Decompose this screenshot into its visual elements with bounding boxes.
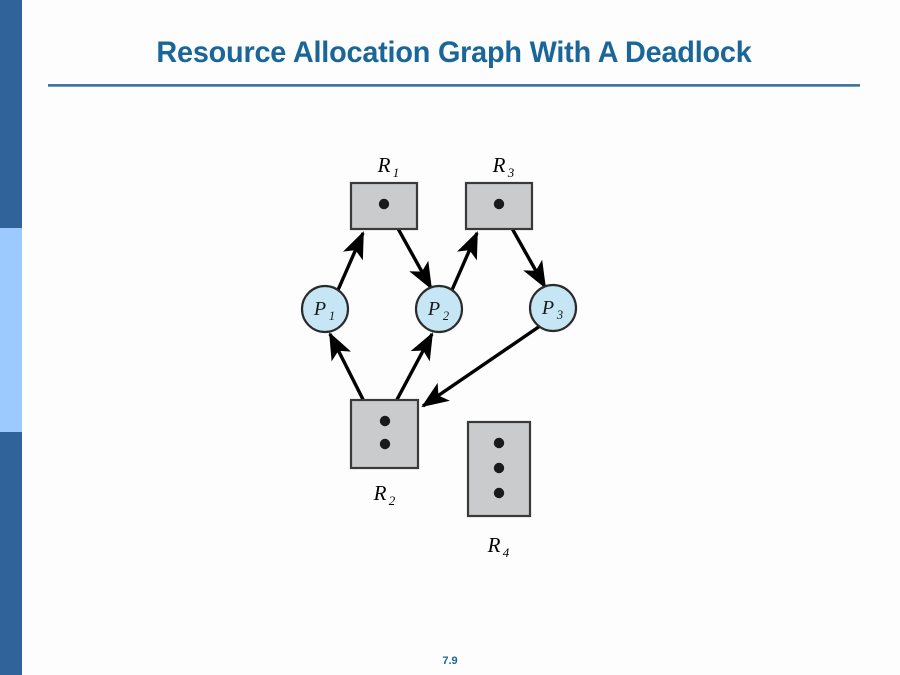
slide: Resource Allocation Graph With A Deadloc…	[0, 0, 900, 675]
resource-label-r2: R	[373, 481, 387, 505]
resource-label-r1: R	[377, 153, 391, 177]
resource-allocation-graph: R 1 R 3 R 2 R 4 P	[0, 0, 900, 675]
edge-p2-to-r3	[452, 233, 477, 290]
resource-node-r1[interactable]: R 1	[351, 153, 417, 229]
resource-box-r2	[351, 400, 418, 468]
process-label-p3: P	[541, 297, 554, 319]
resource-label-r4-subscript: 4	[503, 545, 510, 560]
resource-label-r1-subscript: 1	[393, 165, 400, 180]
edge-p3-to-r2	[423, 326, 540, 406]
instance-dot	[380, 416, 390, 426]
resource-label-r3: R	[492, 153, 506, 177]
instance-dot	[494, 438, 504, 448]
resource-label-r3-subscript: 3	[507, 165, 515, 180]
instance-dot	[494, 463, 504, 473]
resource-label-r4: R	[487, 533, 501, 557]
process-label-p1-subscript: 1	[329, 309, 335, 323]
process-node-p3[interactable]: P 3	[530, 285, 576, 331]
resource-node-r3[interactable]: R 3	[466, 153, 532, 229]
instance-dot	[494, 199, 504, 209]
process-node-p2[interactable]: P 2	[416, 286, 462, 332]
resource-label-r2-subscript: 2	[389, 493, 396, 508]
process-label-p3-subscript: 3	[556, 308, 563, 322]
instance-dot	[379, 199, 389, 209]
process-label-p2-subscript: 2	[443, 309, 449, 323]
process-label-p1: P	[313, 298, 326, 320]
process-label-p2: P	[427, 298, 440, 320]
instance-dot	[494, 488, 504, 498]
resource-node-r2[interactable]: R 2	[351, 400, 418, 508]
slide-page-number: 7.9	[0, 655, 900, 667]
resource-node-r4[interactable]: R 4	[468, 422, 530, 560]
edge-p1-to-r1	[338, 233, 363, 290]
instance-dot	[380, 439, 390, 449]
process-node-p1[interactable]: P 1	[302, 286, 348, 332]
